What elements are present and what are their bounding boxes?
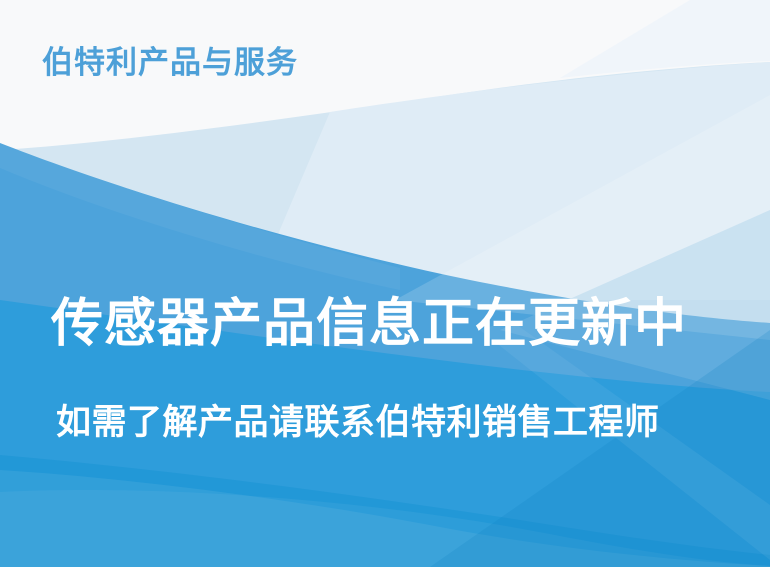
page-title: 伯特利产品与服务 <box>42 46 298 80</box>
product-placeholder-banner: 伯特利产品与服务 传感器产品信息正在更新中 如需了解产品请联系伯特利销售工程师 <box>0 0 770 567</box>
main-heading: 传感器产品信息正在更新中 <box>51 296 687 352</box>
sub-heading: 如需了解产品请联系伯特利销售工程师 <box>56 404 660 443</box>
banner-text-layer: 伯特利产品与服务 传感器产品信息正在更新中 如需了解产品请联系伯特利销售工程师 <box>0 0 770 567</box>
